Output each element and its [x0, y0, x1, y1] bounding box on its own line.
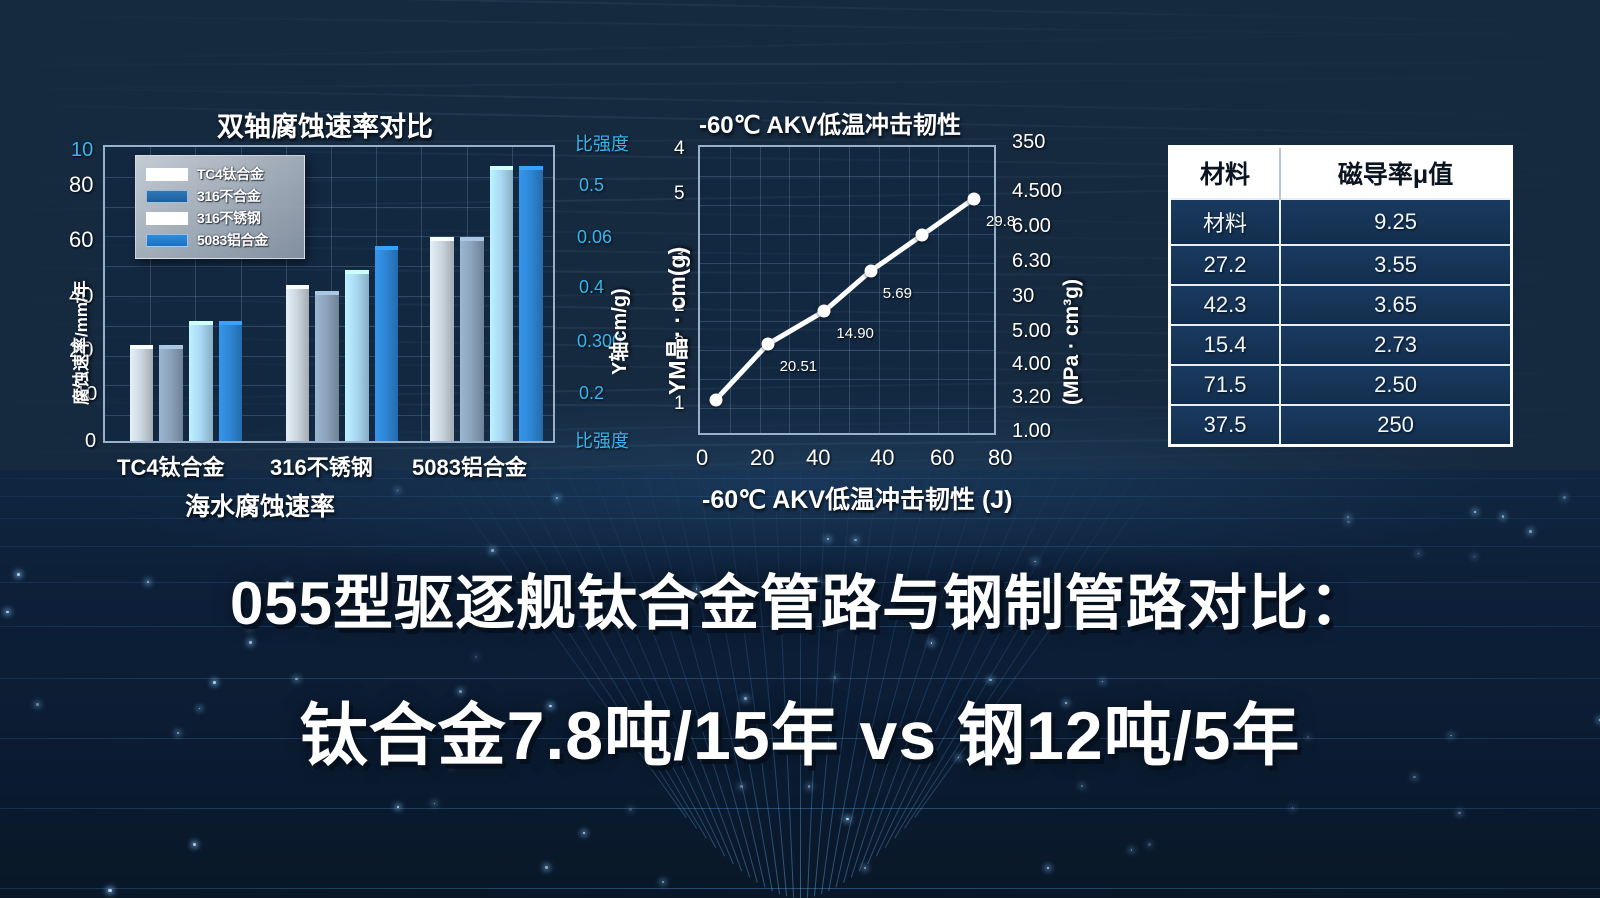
bar-0-1 — [159, 349, 183, 441]
bar-1-2 — [345, 274, 369, 441]
line-xtick-4: 60 — [930, 445, 954, 471]
bar-0-2 — [189, 325, 213, 441]
table-cell-3-1: 2.73 — [1280, 325, 1510, 365]
line-ytick-0: 1 — [674, 393, 685, 415]
line-y2tick-3: 5.00 — [1012, 320, 1051, 343]
line-x-axis-label: -60℃ AKV低温冲击韧性 (J) — [702, 480, 1013, 516]
data-point-2 — [818, 305, 831, 318]
bar-1-0 — [286, 289, 310, 441]
table-row: 材料9.25 — [1171, 199, 1510, 245]
data-point-1 — [761, 338, 774, 351]
bar-ytick-6: 10 — [71, 139, 93, 162]
table-row: 71.52.50 — [1171, 365, 1510, 405]
data-point-4 — [916, 228, 929, 241]
line-ytick-5: 4 — [674, 138, 685, 160]
magnetic-permeability-table: 材料磁导率μ值 材料9.2527.23.5542.33.6515.42.7371… — [1168, 145, 1513, 447]
bar-2-2 — [490, 170, 514, 441]
table-cell-5-1: 250 — [1280, 405, 1510, 444]
bar-category-1: 316不锈钢 — [270, 450, 373, 482]
table-header-1: 磁导率μ值 — [1280, 148, 1510, 199]
headline-line-2: 钛合金7.8吨/15年 vs 钢12吨/5年 — [0, 680, 1600, 779]
table-cell-5-0: 37.5 — [1171, 405, 1280, 444]
legend-item-0[interactable]: TC4钛合金 — [146, 164, 294, 184]
bar-0-3 — [219, 325, 243, 441]
line-xtick-2: 40 — [806, 445, 830, 471]
table-cell-2-1: 3.65 — [1280, 285, 1510, 325]
line-y2-axis-label: (MPa · cm³g) — [1060, 279, 1084, 405]
data-label-1: 20.51 — [780, 358, 818, 375]
legend-item-1[interactable]: 316不合金 — [146, 186, 294, 206]
line-xtick-5: 80 — [988, 445, 1012, 471]
line-xtick-3: 40 — [870, 445, 894, 471]
line-y2tick-8: 350 — [1012, 131, 1045, 154]
bar-y-axis-label: 腐蚀速率/mm/年 — [67, 280, 92, 405]
table-cell-1-1: 3.55 — [1280, 245, 1510, 285]
data-point-3 — [864, 264, 877, 277]
headline-line-1: 055型驱逐舰钛合金管路与钢制管路对比： — [0, 555, 1600, 642]
line-ytick-4: 5 — [674, 183, 685, 205]
bar-ytick-4: 60 — [69, 227, 93, 253]
bar-y2tick-3: 0.06 — [577, 227, 612, 248]
legend-label: 5083铝合金 — [197, 230, 268, 250]
line-chart-panel: -60℃ AKV低温冲击韧性 20.5114.905.6929.8 4 5 3 … — [620, 105, 1090, 505]
table-cell-4-1: 2.50 — [1280, 365, 1510, 405]
bar-category-2: 5083铝合金 — [412, 450, 527, 482]
bar-ytick-0: 0 — [85, 430, 96, 453]
bar-0-0 — [130, 349, 154, 441]
table-cell-2-0: 42.3 — [1171, 285, 1280, 325]
bar-chart-title: 双轴腐蚀速率对比 — [115, 105, 535, 144]
data-point-5 — [968, 192, 981, 205]
bar-category-0: TC4钛合金 — [117, 450, 225, 482]
data-label-5: 29.8 — [986, 213, 1015, 230]
line-plot-area: 20.5114.905.6929.8 — [698, 145, 996, 435]
table-row: 15.42.73 — [1171, 325, 1510, 365]
table-cell-4-0: 71.5 — [1171, 365, 1280, 405]
data-point-0 — [710, 393, 723, 406]
line-y2tick-1: 3.20 — [1012, 386, 1051, 409]
legend-item-3[interactable]: 5083铝合金 — [146, 230, 294, 250]
legend-item-2[interactable]: 316不锈钢 — [146, 208, 294, 228]
table-row: 37.5250 — [1171, 405, 1510, 444]
line-chart-title: -60℃ AKV低温冲击韧性 — [660, 105, 1000, 140]
bar-y2tick-4: 0.5 — [579, 175, 604, 196]
bar-ytick-5: 80 — [69, 172, 93, 198]
data-label-3: 5.69 — [883, 285, 912, 302]
table-cell-0-1: 9.25 — [1280, 199, 1510, 245]
bar-chart-panel: 双轴腐蚀速率对比 10 80 60 40 20 10 0 腐蚀速率/mm/年 比… — [55, 105, 615, 505]
legend-label: TC4钛合金 — [197, 164, 264, 184]
line-path — [700, 147, 998, 437]
legend-label: 316不锈钢 — [197, 208, 261, 228]
bar-1-1 — [315, 295, 339, 441]
line-y-axis-label: YM晶· · cm(g) — [658, 247, 692, 395]
bar-x-axis-label: 海水腐蚀速率 — [185, 487, 335, 523]
line-xtick-1: 20 — [750, 445, 774, 471]
line-y2tick-2: 4.00 — [1012, 353, 1051, 376]
legend-label: 316不合金 — [197, 186, 261, 206]
table-header-0: 材料 — [1171, 148, 1280, 199]
table-row: 42.33.65 — [1171, 285, 1510, 325]
table-cell-1-0: 27.2 — [1171, 245, 1280, 285]
legend-swatch-icon — [146, 168, 188, 181]
bar-2-3 — [519, 170, 543, 441]
bar-2-0 — [430, 241, 454, 441]
table-cell-3-0: 15.4 — [1171, 325, 1280, 365]
legend-swatch-icon — [146, 234, 188, 247]
table-header-row: 材料磁导率μ值 — [1171, 148, 1510, 199]
table-row: 27.23.55 — [1171, 245, 1510, 285]
bar-1-3 — [375, 250, 399, 441]
line-y2tick-4: 30 — [1012, 285, 1034, 308]
line-y2tick-6: 6.00 — [1012, 215, 1051, 238]
table-cell-0-0: 材料 — [1171, 199, 1280, 245]
line-xtick-0: 0 — [696, 445, 708, 471]
data-label-2: 14.90 — [836, 325, 874, 342]
bar-chart-legend: TC4钛合金316不合金316不锈钢5083铝合金 — [135, 155, 305, 259]
bar-y2tick-2: 0.4 — [579, 277, 604, 298]
bar-2-1 — [460, 241, 484, 441]
line-y2tick-0: 1.00 — [1012, 420, 1051, 443]
line-y2tick-5: 6.30 — [1012, 250, 1051, 273]
bar-y2tick-0: 0.2 — [579, 383, 604, 404]
line-y2tick-7: 4.500 — [1012, 180, 1062, 203]
legend-swatch-icon — [146, 212, 188, 225]
legend-swatch-icon — [146, 190, 188, 203]
